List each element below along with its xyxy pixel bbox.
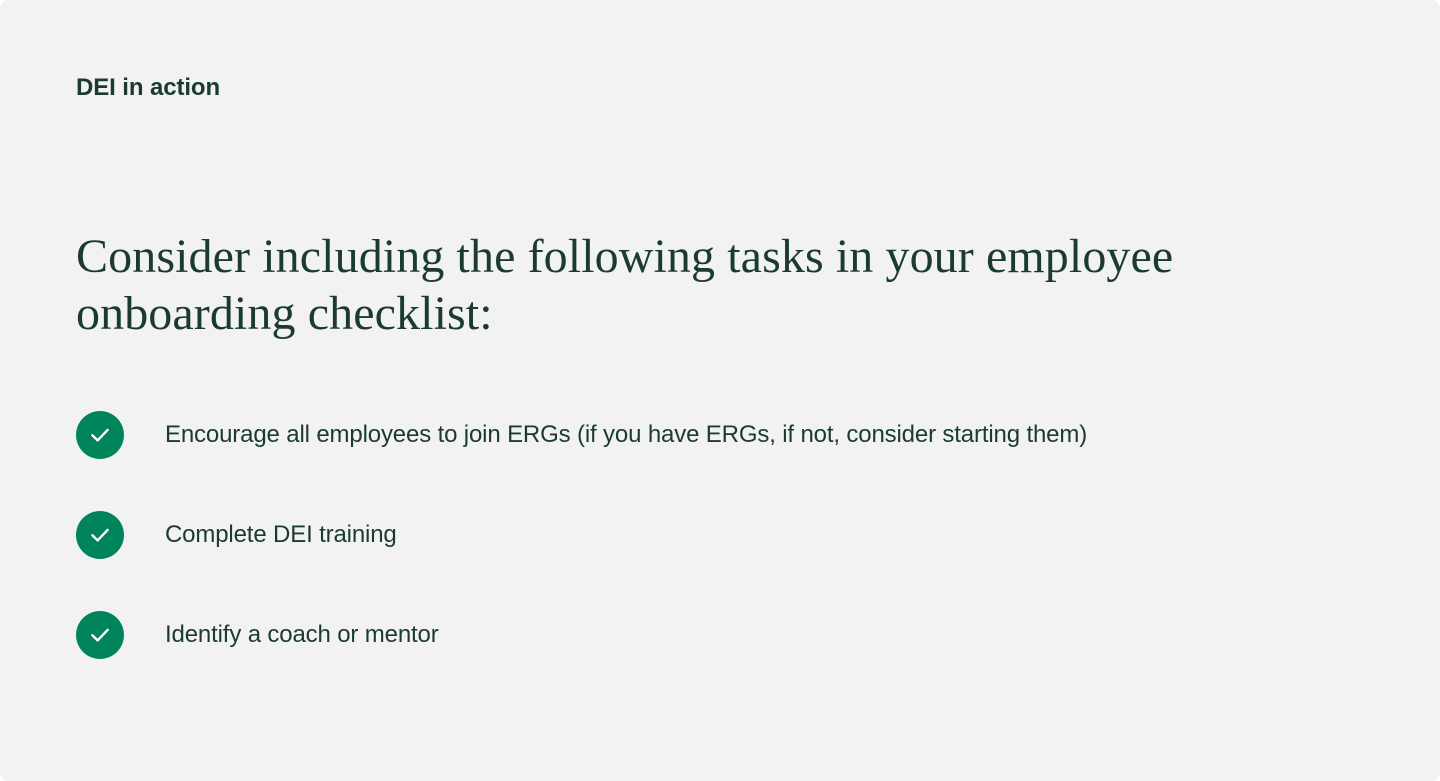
list-item: Complete DEI training	[76, 511, 1386, 559]
list-item-label: Encourage all employees to join ERGs (if…	[165, 411, 1386, 459]
list-item: Identify a coach or mentor	[76, 611, 1386, 659]
check-icon	[76, 611, 124, 659]
dei-in-action-card: DEI in action Consider including the fol…	[0, 0, 1440, 781]
list-item: Encourage all employees to join ERGs (if…	[76, 411, 1386, 459]
eyebrow-label: DEI in action	[76, 72, 220, 104]
page-title: Consider including the following tasks i…	[76, 228, 1176, 342]
onboarding-checklist: Encourage all employees to join ERGs (if…	[76, 411, 1386, 659]
check-icon	[76, 511, 124, 559]
list-item-label: Identify a coach or mentor	[165, 611, 1386, 659]
check-icon	[76, 411, 124, 459]
list-item-label: Complete DEI training	[165, 511, 1386, 559]
